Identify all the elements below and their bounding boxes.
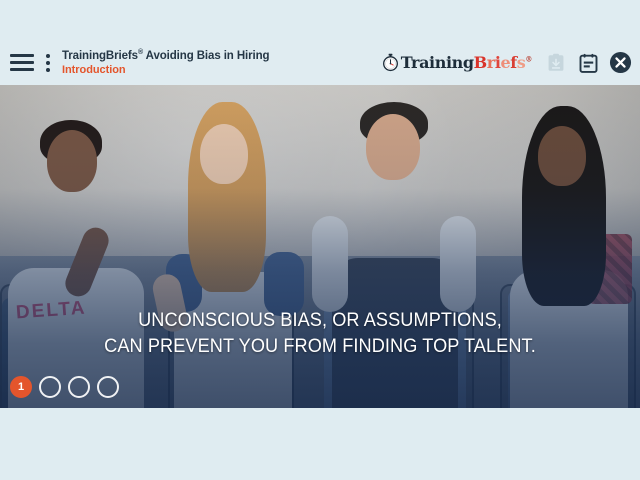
pagination-dot-2[interactable] (39, 376, 61, 398)
header-actions: TrainingBriefs® (381, 51, 632, 75)
hamburger-menu-icon[interactable] (10, 54, 34, 71)
header-titles: TrainingBriefs® Avoiding Bias in Hiring … (62, 49, 269, 76)
scene-photo: DELTA (0, 85, 640, 408)
pagination-dot-3[interactable] (68, 376, 90, 398)
notes-button[interactable] (576, 51, 600, 75)
hamburger-line (10, 68, 34, 71)
trainingbriefs-logo: TrainingBriefs® (381, 53, 532, 72)
download-clipboard-icon (547, 53, 565, 72)
course-title-text: Avoiding Bias in Hiring (143, 50, 269, 62)
player-header: TrainingBriefs® Avoiding Bias in Hiring … (0, 40, 640, 85)
hamburger-line (10, 54, 34, 57)
slide-pagination: 1 (10, 376, 119, 398)
course-player: TrainingBriefs® Avoiding Bias in Hiring … (0, 0, 640, 480)
more-options-icon[interactable] (40, 54, 56, 72)
close-button[interactable] (608, 51, 632, 75)
hamburger-line (10, 61, 34, 64)
slide-caption: UNCONSCIOUS BIAS, OR ASSUMPTIONS, CAN PR… (22, 307, 617, 359)
kebab-dot (46, 54, 50, 58)
notes-clipboard-icon (579, 53, 598, 73)
pagination-dot-1[interactable]: 1 (10, 376, 32, 398)
course-title-brand: TrainingBriefs (62, 50, 138, 62)
download-resources-button[interactable] (544, 51, 568, 75)
close-circle-icon (609, 51, 632, 74)
logo-letter-e: e (501, 53, 511, 72)
logo-wordmark: TrainingBriefs® (401, 53, 532, 72)
logo-letter-r: r (487, 53, 495, 72)
slide-stage[interactable]: DELTA (0, 85, 640, 408)
stopwatch-icon (381, 53, 400, 72)
caption-line-2: CAN PREVENT YOU FROM FINDING TOP TALENT. (22, 333, 617, 359)
logo-letter-b: B (474, 53, 487, 72)
section-label: Introduction (62, 64, 269, 76)
caption-line-1: UNCONSCIOUS BIAS, OR ASSUMPTIONS, (22, 307, 617, 333)
logo-word-training: Training (401, 53, 474, 72)
kebab-dot (46, 61, 50, 65)
course-title: TrainingBriefs® Avoiding Bias in Hiring (62, 49, 269, 63)
kebab-dot (46, 68, 50, 72)
scene-overlay-tint (0, 85, 640, 408)
logo-trademark-symbol: ® (525, 55, 532, 64)
pagination-dot-4[interactable] (97, 376, 119, 398)
